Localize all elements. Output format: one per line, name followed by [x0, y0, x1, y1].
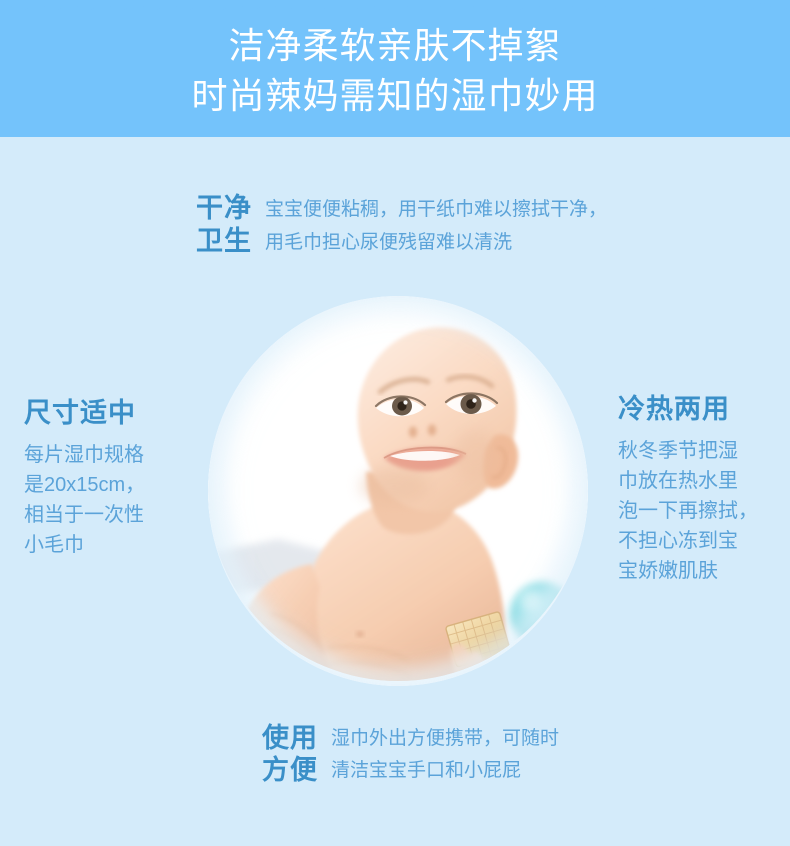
feature-portable-title: 使用 方便 [262, 722, 318, 786]
header-title-line-1: 洁净柔软亲肤不掉絮 [228, 22, 561, 70]
feature-temperature-title: 冷热两用 [618, 392, 778, 426]
header-band: 洁净柔软亲肤不掉絮 时尚辣妈需知的湿巾妙用 [0, 0, 790, 137]
feature-size-body: 每片湿巾规格 是20x15cm， 相当于一次性 小毛巾 [24, 440, 199, 560]
feature-size-title: 尺寸适中 [24, 396, 199, 430]
feature-size: 尺寸适中 每片湿巾规格 是20x15cm， 相当于一次性 小毛巾 [24, 396, 199, 560]
feature-hygiene-title: 干净 卫生 [196, 192, 252, 258]
baby-illustration [208, 296, 588, 686]
feature-portable: 使用 方便 湿巾外出方便携带，可随时 清洁宝宝手口和小屁屁 [262, 722, 559, 787]
baby-photo [208, 296, 588, 686]
feature-portable-body: 湿巾外出方便携带，可随时 清洁宝宝手口和小屁屁 [331, 722, 559, 787]
feature-hygiene-body: 宝宝便便粘稠，用干纸巾难以擦拭干净， 用毛巾担心尿便残留难以清洗 [265, 192, 607, 259]
header-title-group: 洁净柔软亲肤不掉絮 时尚辣妈需知的湿巾妙用 [0, 0, 790, 137]
product-feature-banner: 洁净柔软亲肤不掉絮 时尚辣妈需知的湿巾妙用 [0, 0, 790, 846]
header-title-line-2: 时尚辣妈需知的湿巾妙用 [191, 72, 598, 120]
feature-hygiene: 干净 卫生 宝宝便便粘稠，用干纸巾难以擦拭干净， 用毛巾担心尿便残留难以清洗 [196, 192, 607, 259]
feature-temperature: 冷热两用 秋冬季节把湿 巾放在热水里 泡一下再擦拭， 不担心冻到宝 宝娇嫩肌肤 [618, 392, 778, 586]
feature-temperature-body: 秋冬季节把湿 巾放在热水里 泡一下再擦拭， 不担心冻到宝 宝娇嫩肌肤 [618, 436, 778, 586]
baby-navel [356, 631, 364, 637]
